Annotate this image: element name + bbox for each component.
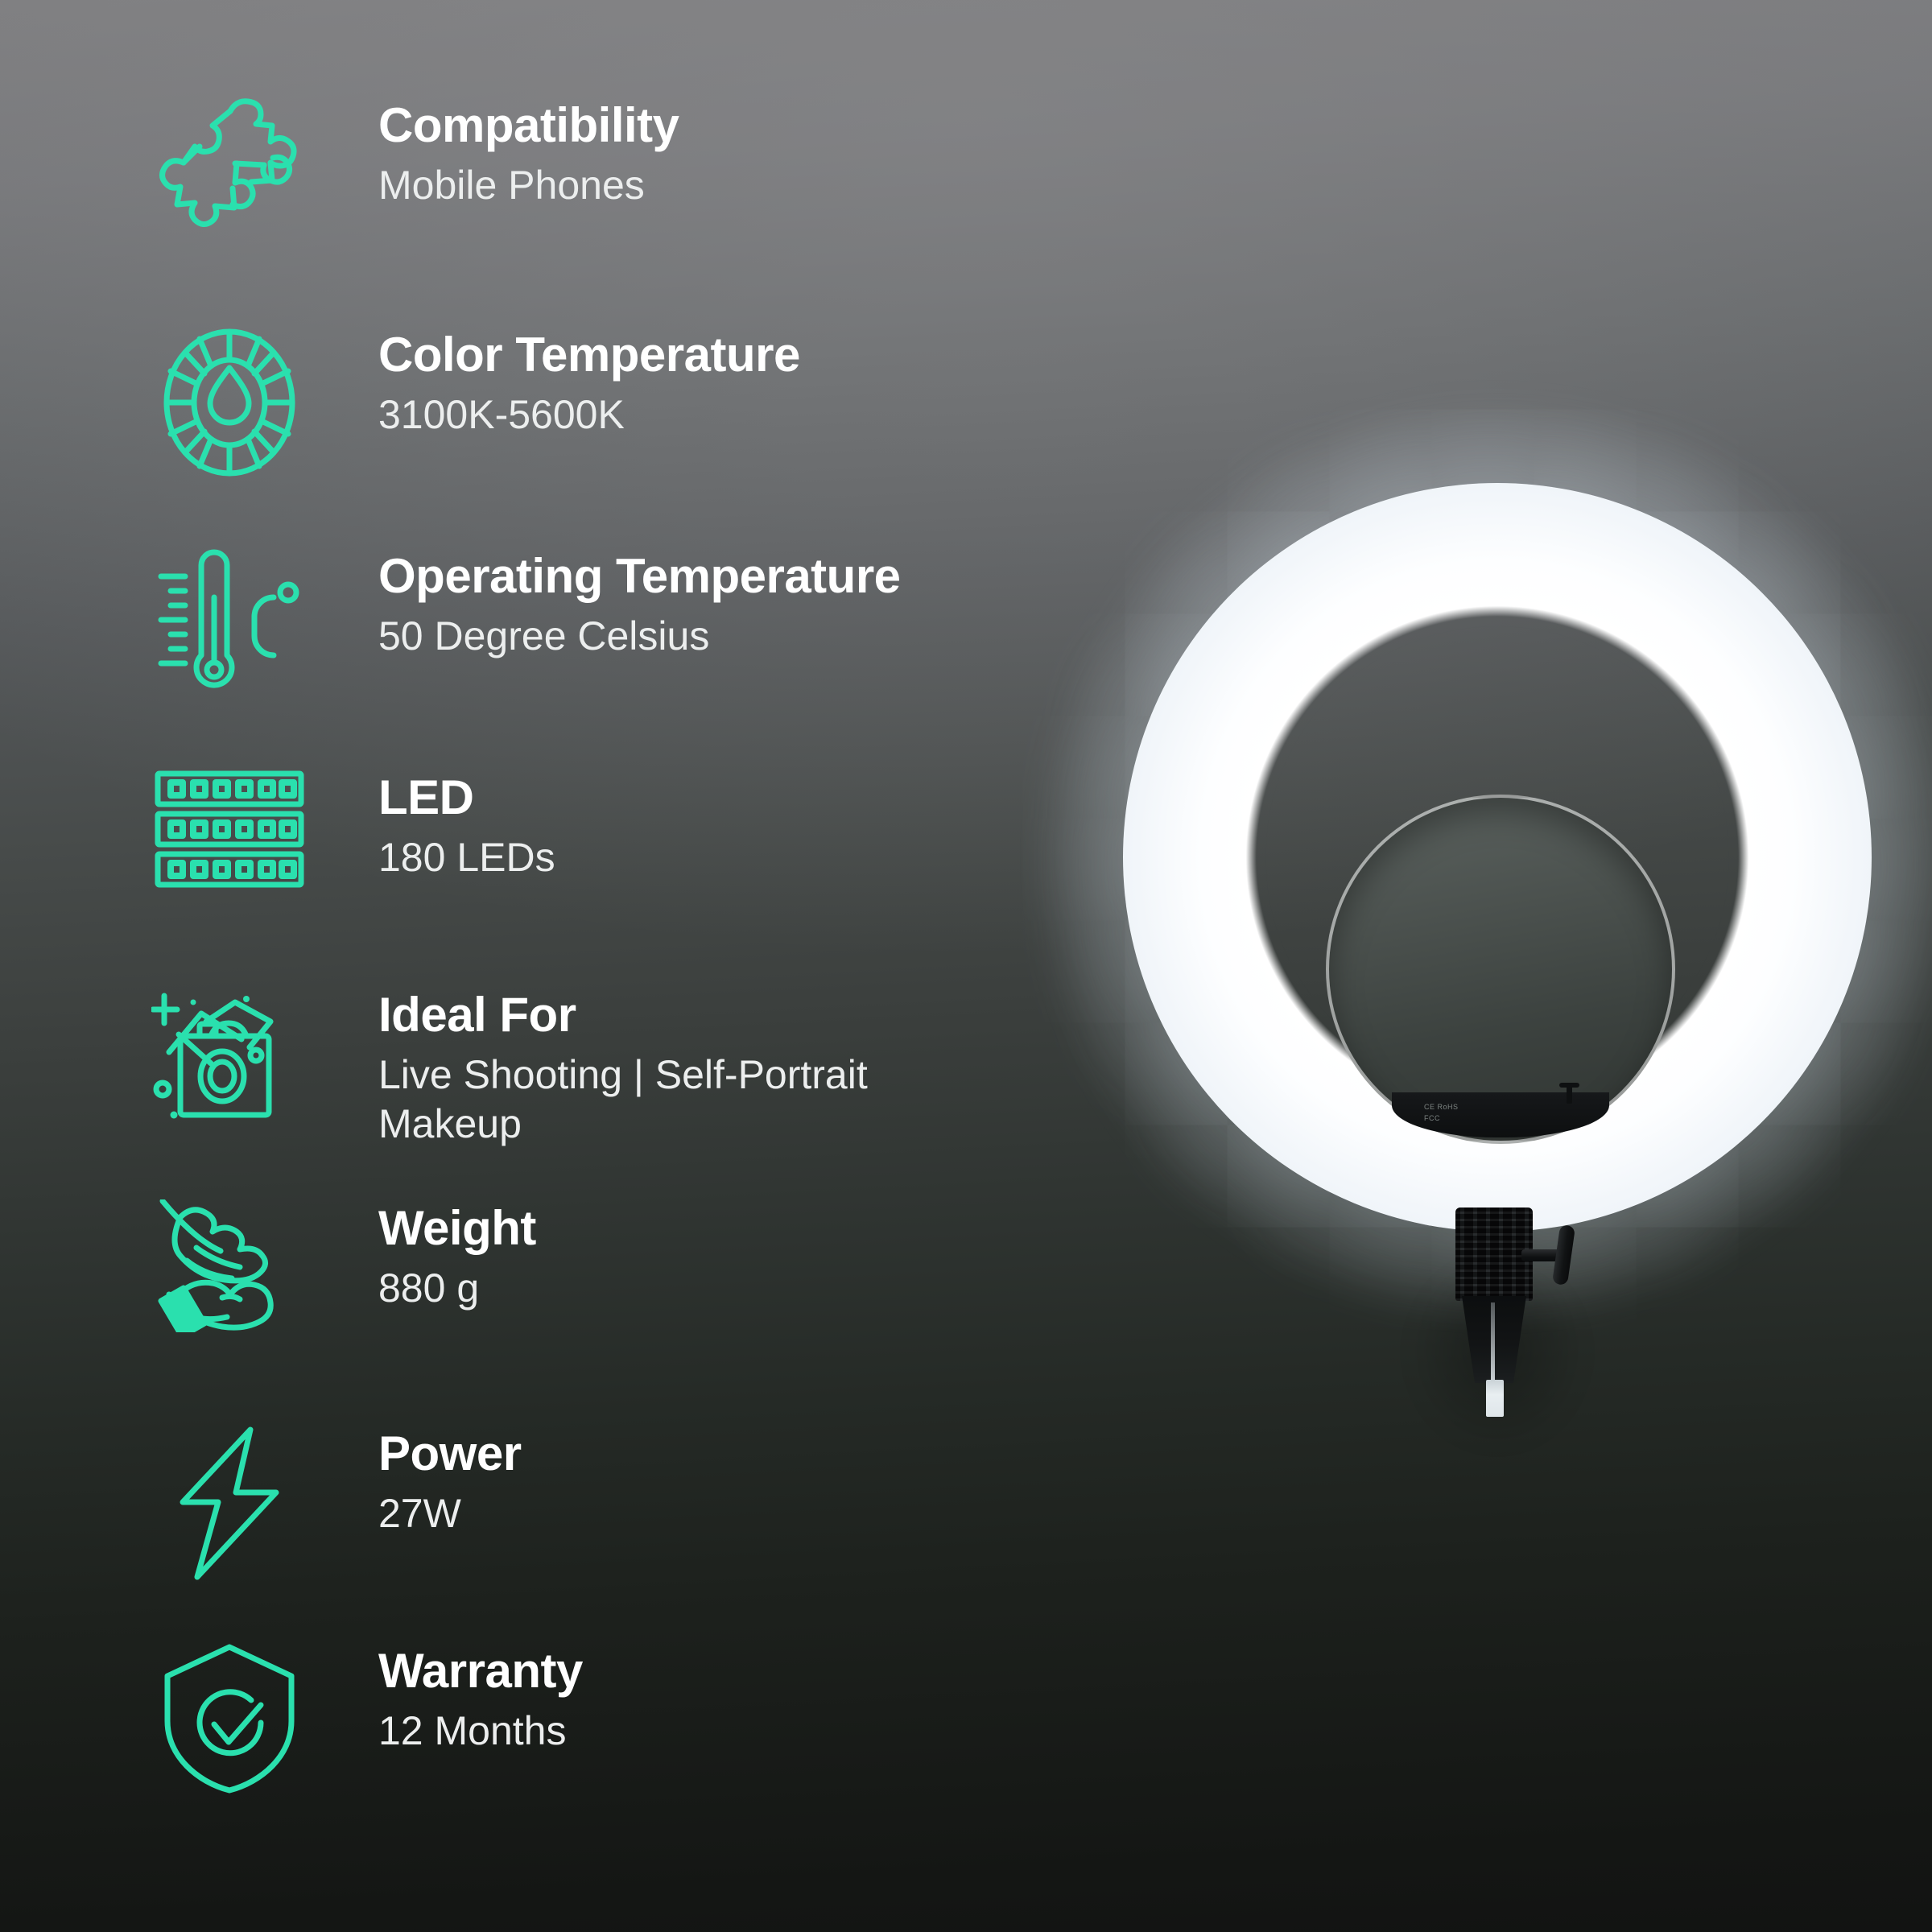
- mount-tighten-knob: [1552, 1224, 1575, 1286]
- spec-text-weight: Weight 880 g: [378, 1199, 536, 1313]
- led-strip-icon: [145, 769, 314, 890]
- spec-text-ideal-for: Ideal For Live Shooting | Self-Portrait …: [378, 986, 868, 1149]
- spec-value: Mobile Phones: [378, 161, 679, 210]
- spec-value: 180 LEDs: [378, 833, 555, 882]
- spec-row-compatibility: Compatibility Mobile Phones: [145, 97, 679, 233]
- spec-row-power: Power 27W: [145, 1425, 522, 1582]
- spec-text-warranty: Warranty 12 Months: [378, 1642, 583, 1756]
- ring-light-inner-opening: CE RoHS FCC: [1326, 795, 1675, 1144]
- spec-row-ideal-for: Ideal For Live Shooting | Self-Portrait …: [145, 986, 868, 1149]
- mount-bracket-pin: [1567, 1083, 1572, 1104]
- certification-label: CE RoHS FCC: [1424, 1102, 1459, 1124]
- spec-text-power: Power 27W: [378, 1425, 522, 1538]
- spec-title: Weight: [378, 1203, 536, 1254]
- spec-row-operating-temperature: Operating Temperature 50 Degree Celsius: [145, 547, 901, 700]
- spec-title: Warranty: [378, 1645, 583, 1697]
- spec-title: Power: [378, 1428, 522, 1480]
- shield-check-icon: [145, 1642, 314, 1795]
- spec-row-color-temperature: Color Temperature 3100K-5600K: [145, 326, 800, 479]
- spec-value: 27W: [378, 1489, 522, 1538]
- spec-row-warranty: Warranty 12 Months: [145, 1642, 583, 1795]
- camera-photos-icon: [145, 986, 314, 1135]
- spec-title: Ideal For: [378, 989, 868, 1041]
- thermometer-icon: [145, 547, 314, 700]
- spec-title: Operating Temperature: [378, 551, 901, 602]
- product-spec-infographic: Compatibility Mobile Phones: [0, 0, 1932, 1932]
- spec-text-operating-temperature: Operating Temperature 50 Degree Celsius: [378, 547, 901, 661]
- spec-title: Compatibility: [378, 100, 679, 151]
- spec-text-led: LED 180 LEDs: [378, 769, 555, 882]
- spec-text-compatibility: Compatibility Mobile Phones: [378, 97, 679, 210]
- spec-value: 3100K-5600K: [378, 390, 800, 440]
- color-wheel-icon: [145, 326, 314, 479]
- spec-row-weight: Weight 880 g: [145, 1199, 536, 1332]
- feather-hand-icon: [145, 1199, 314, 1332]
- mount-tip: [1486, 1380, 1504, 1417]
- spec-value: Live Shooting | Self-Portrait Makeup: [378, 1051, 868, 1149]
- spec-title: LED: [378, 772, 555, 824]
- spec-value: 880 g: [378, 1264, 536, 1313]
- lightning-bolt-icon: [145, 1425, 314, 1582]
- spec-value: 12 Months: [378, 1707, 583, 1756]
- spec-value: 50 Degree Celsius: [378, 612, 901, 661]
- spec-text-color-temperature: Color Temperature 3100K-5600K: [378, 326, 800, 440]
- ring-light-mount: [1441, 1207, 1554, 1449]
- spec-row-led: LED 180 LEDs: [145, 769, 555, 890]
- spec-title: Color Temperature: [378, 329, 800, 381]
- ring-light-product-image: CE RoHS FCC: [1123, 483, 1872, 1449]
- puzzle-icon: [145, 97, 314, 233]
